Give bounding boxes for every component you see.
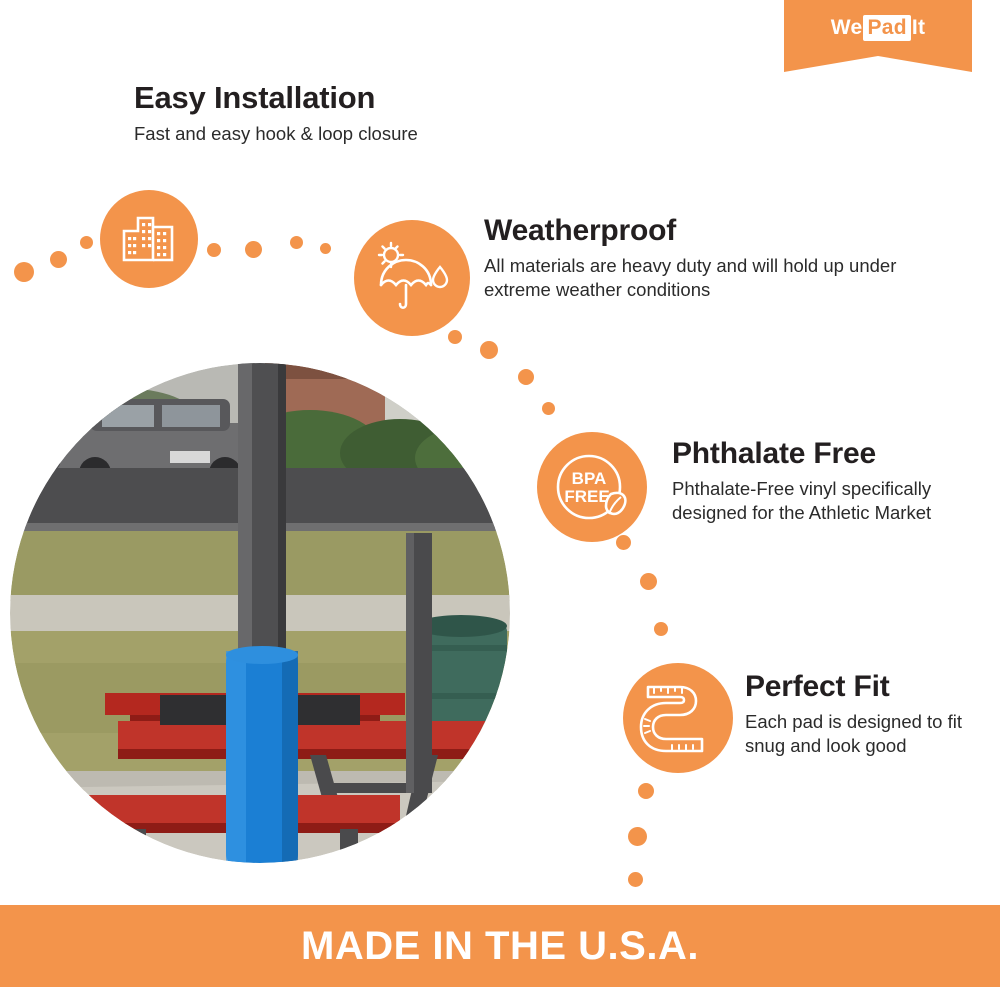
feature-weatherproof: Weatherproof All materials are heavy dut… <box>484 214 904 303</box>
logo-part-it: It <box>912 16 925 39</box>
feature-description: All materials are heavy duty and will ho… <box>484 254 904 303</box>
feature-description: Phthalate-Free vinyl specifically design… <box>672 477 972 526</box>
feature-title: Easy Installation <box>134 80 418 116</box>
umbrella-sun-rain-icon <box>354 220 470 336</box>
feature-description: Fast and easy hook & loop closure <box>134 122 418 146</box>
svg-text:BPA: BPA <box>572 469 607 488</box>
brand-logo: WePadIt <box>784 0 972 56</box>
product-photo <box>10 363 510 863</box>
feature-description: Each pad is designed to fit snug and loo… <box>745 710 985 759</box>
feature-title: Weatherproof <box>484 214 904 248</box>
building-icon <box>100 190 198 288</box>
promo-graphic: WePadIt Easy Installation Fast and easy … <box>0 0 1000 987</box>
feature-perfect-fit: Perfect Fit Each pad is designed to fit … <box>745 670 985 759</box>
logo-part-pad: Pad <box>863 15 910 41</box>
feature-title: Perfect Fit <box>745 670 985 704</box>
logo-text: WePadIt <box>831 15 926 41</box>
measuring-tape-icon <box>623 663 733 773</box>
made-in-usa-text: MADE IN THE U.S.A. <box>301 924 699 969</box>
feature-phthalate-free: Phthalate Free Phthalate-Free vinyl spec… <box>672 437 972 526</box>
logo-badge: WePadIt <box>784 0 972 56</box>
bpa-free-icon: BPA FREE <box>537 432 647 542</box>
made-in-usa-banner: MADE IN THE U.S.A. <box>0 905 1000 987</box>
logo-part-we: We <box>831 16 863 39</box>
feature-title: Phthalate Free <box>672 437 972 471</box>
svg-text:FREE: FREE <box>564 487 609 506</box>
feature-easy-installation: Easy Installation Fast and easy hook & l… <box>134 80 418 146</box>
